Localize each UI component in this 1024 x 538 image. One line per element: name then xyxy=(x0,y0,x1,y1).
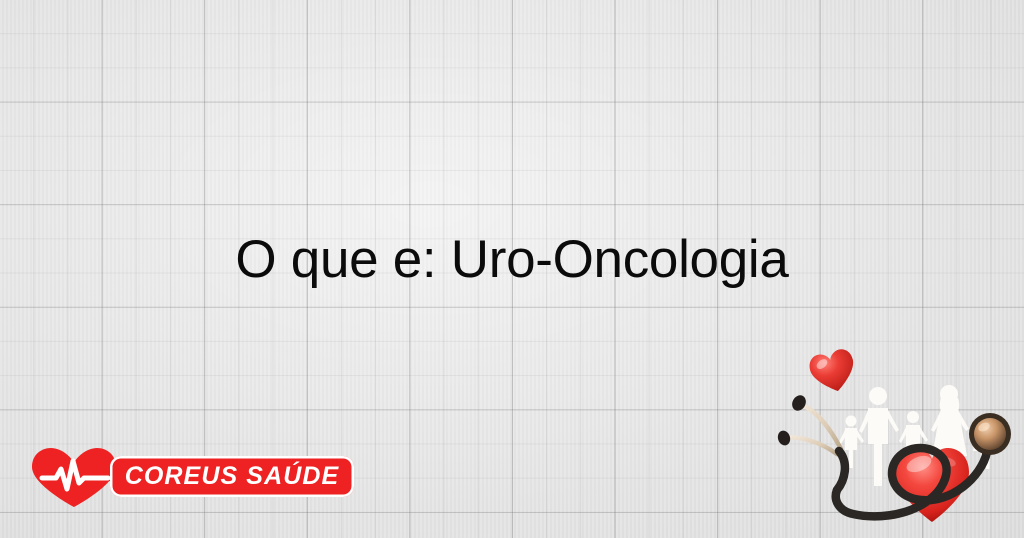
stethoscope-binaural xyxy=(785,404,841,454)
small-floating-heart xyxy=(807,348,859,396)
stethoscope-heart-family-illustration xyxy=(775,348,1024,538)
brand-name-badge: COREUS SAÚDE xyxy=(110,456,354,497)
page-title: O que e: Uro-Oncologia xyxy=(0,233,1024,286)
stethoscope-chestpiece xyxy=(969,413,1011,455)
stethoscope-tube-back xyxy=(837,451,845,490)
heart-pulse-icon xyxy=(26,447,122,509)
brand-name-label: COREUS SAÚDE xyxy=(125,462,340,491)
slide-canvas: O que e: Uro-Oncologia COREUS SAÚDE xyxy=(0,0,1024,538)
brand-logo[interactable]: COREUS SAÚDE xyxy=(26,447,356,509)
